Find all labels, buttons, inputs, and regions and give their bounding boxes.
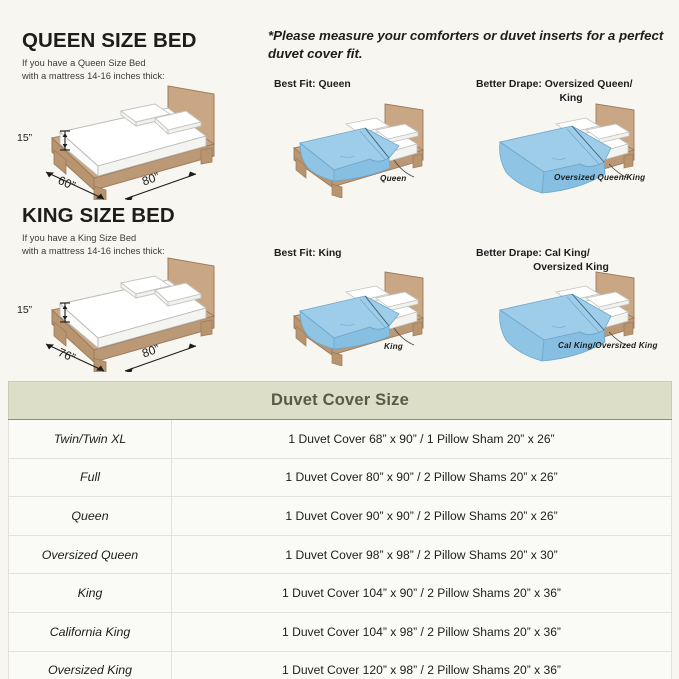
best-fit-king-diagram: King: [272, 266, 442, 366]
table-row: King 1 Duvet Cover 104” x 90” / 2 Pillow…: [9, 574, 672, 613]
row-size-label: Oversized King: [9, 651, 172, 679]
table-header-row: Duvet Cover Size: [9, 382, 672, 420]
table-row: Oversized King 1 Duvet Cover 120” x 98” …: [9, 651, 672, 679]
best-fit-king-heading: Best Fit: King: [274, 247, 342, 261]
queen-size-block: QUEEN SIZE BED If you have a Queen Size …: [22, 30, 272, 83]
row-size-label: King: [9, 574, 172, 613]
row-size-label: California King: [9, 612, 172, 651]
best-fit-queen-callout: Queen: [380, 174, 406, 183]
row-size-detail: 1 Duvet Cover 104” x 98” / 2 Pillow Sham…: [172, 612, 672, 651]
king-size-title: KING SIZE BED: [22, 205, 272, 227]
king-size-subtitle-line1: If you have a King Size Bed: [22, 233, 136, 243]
measurement-note: *Please measure your comforters or duvet…: [268, 27, 678, 62]
row-size-detail: 1 Duvet Cover 98” x 98” / 2 Pillow Shams…: [172, 535, 672, 574]
row-size-detail: 1 Duvet Cover 80” x 90” / 2 Pillow Shams…: [172, 458, 672, 497]
better-drape-queen-heading-line1: Better Drape: Oversized Queen/: [476, 79, 633, 90]
better-drape-queen-diagram: Oversized Queen/King: [468, 98, 673, 198]
queen-height-dimension: 15”: [17, 132, 32, 144]
better-drape-king-diagram: Cal King/Oversized King: [468, 266, 673, 366]
duvet-size-guide-page: QUEEN SIZE BED If you have a Queen Size …: [0, 0, 679, 679]
table-row: Twin/Twin XL 1 Duvet Cover 68” x 90” / 1…: [9, 420, 672, 459]
better-drape-king-callout: Cal King/Oversized King: [558, 341, 658, 350]
row-size-label: Twin/Twin XL: [9, 420, 172, 459]
king-size-block: KING SIZE BED If you have a King Size Be…: [22, 205, 272, 258]
table-row: Oversized Queen 1 Duvet Cover 98” x 98” …: [9, 535, 672, 574]
duvet-cover-size-table: Duvet Cover Size Twin/Twin XL 1 Duvet Co…: [8, 381, 672, 679]
best-fit-king-callout: King: [384, 342, 403, 351]
row-size-detail: 1 Duvet Cover 68” x 90” / 1 Pillow Sham …: [172, 420, 672, 459]
queen-size-title: QUEEN SIZE BED: [22, 30, 272, 52]
table-row: California King 1 Duvet Cover 104” x 98”…: [9, 612, 672, 651]
king-bed-diagram: 15” 76” 80”: [18, 252, 233, 372]
row-size-detail: 1 Duvet Cover 90” x 90” / 2 Pillow Shams…: [172, 497, 672, 536]
table-row: Queen 1 Duvet Cover 90” x 90” / 2 Pillow…: [9, 497, 672, 536]
row-size-detail: 1 Duvet Cover 120” x 98” / 2 Pillow Sham…: [172, 651, 672, 679]
table-body: Twin/Twin XL 1 Duvet Cover 68” x 90” / 1…: [9, 420, 672, 679]
better-drape-king-heading-line1: Better Drape: Cal King/: [476, 248, 590, 259]
best-fit-queen-diagram: Queen: [272, 98, 442, 198]
better-drape-queen-callout: Oversized Queen/King: [554, 173, 645, 182]
row-size-label: Queen: [9, 497, 172, 536]
row-size-label: Full: [9, 458, 172, 497]
best-fit-queen-heading: Best Fit: Queen: [274, 78, 351, 92]
row-size-label: Oversized Queen: [9, 535, 172, 574]
queen-size-subtitle-line1: If you have a Queen Size Bed: [22, 58, 146, 68]
table-row: Full 1 Duvet Cover 80” x 90” / 2 Pillow …: [9, 458, 672, 497]
queen-bed-diagram: 15” 60” 80”: [18, 80, 233, 200]
row-size-detail: 1 Duvet Cover 104” x 90” / 2 Pillow Sham…: [172, 574, 672, 613]
king-height-dimension: 15”: [17, 304, 32, 316]
table-header-title: Duvet Cover Size: [9, 382, 672, 420]
